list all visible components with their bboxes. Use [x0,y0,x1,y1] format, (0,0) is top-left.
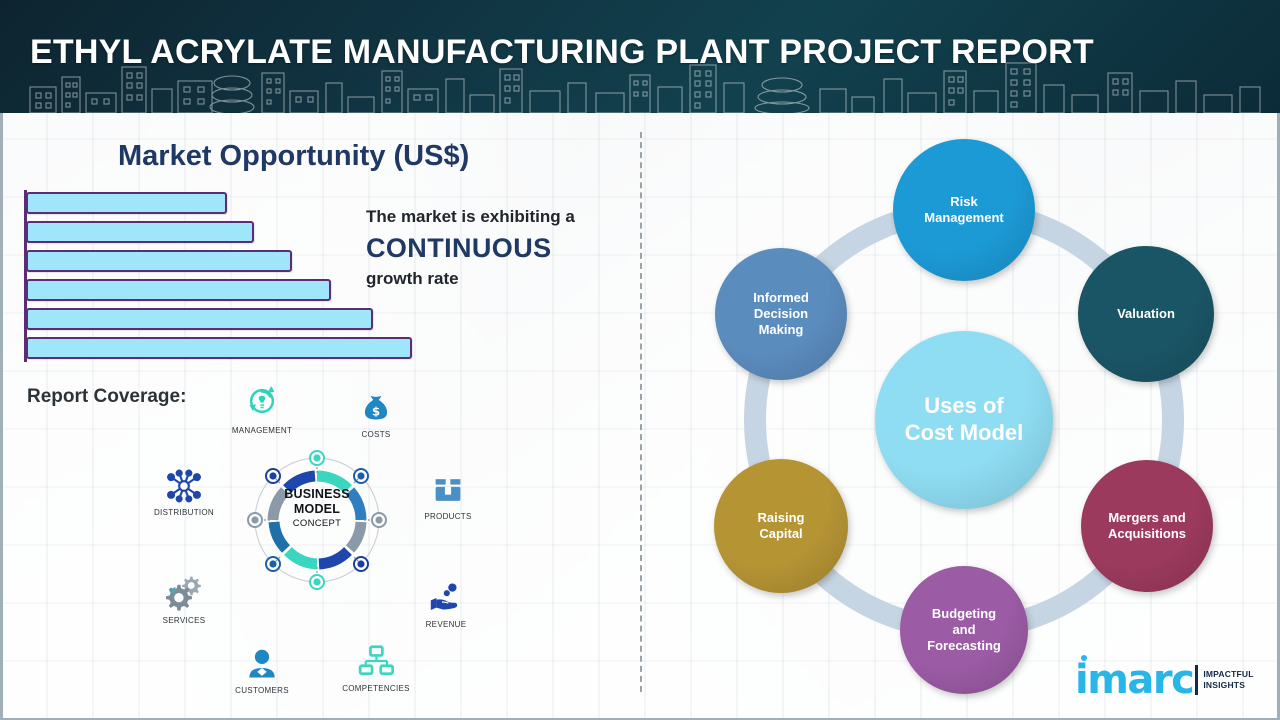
cost-model-node-mergers-and-acquisitions[interactable]: Mergers andAcquisitions [1081,460,1213,592]
cost-model-node-informed-decision[interactable]: InformedDecisionMaking [715,248,847,380]
cost-model-node-mergers-and-acquisitions-line-1: Mergers and [1102,510,1192,526]
cost-model-node-informed-decision-line-3: Making [747,322,815,338]
cost-model-node-mergers-and-acquisitions-line-2: Acquisitions [1102,526,1192,542]
chart-axis [24,190,27,362]
coverage-label-products: PRODUCTS [402,512,494,521]
slide-root: ETHYL ACRYLATE MANUFACTURING PLANT PROJE… [0,0,1280,720]
cost-model-node-risk-management-line-2: Management [918,210,1009,226]
cost-model-node-raising-capital[interactable]: RaisingCapital [714,459,848,593]
slide-header: ETHYL ACRYLATE MANUFACTURING PLANT PROJE… [0,0,1280,113]
bar-6 [26,337,412,359]
logo-wordmark: imarc [1075,662,1193,698]
hand-coins-icon [400,569,492,615]
statement-highlight: CONTINUOUS [366,229,628,267]
coverage-label-management: MANAGEMENT [216,426,308,435]
cost-model-node-budgeting-and-line-3: Forecasting [921,638,1007,654]
money-bag-icon: $ [330,379,422,425]
user-icon [216,635,308,681]
cost-model-node-valuation[interactable]: Valuation [1078,246,1214,382]
coverage-label-distribution: DISTRIBUTION [138,508,230,517]
coverage-item-costs[interactable]: $ COSTS [330,379,422,439]
business-model-donut-icon [247,450,387,590]
cost-model-node-budgeting-and[interactable]: BudgetingandForecasting [900,566,1028,694]
cost-model-node-raising-capital-line-1: Raising [752,510,811,526]
business-model-diagram: BUSINESS MODEL CONCEPT MANAGEMENT [130,375,510,705]
logo-tagline-line1: IMPACTFUL [1203,669,1253,680]
svg-text:$: $ [372,405,380,419]
coverage-item-revenue[interactable]: REVENUE [400,569,492,629]
page-title: ETHYL ACRYLATE MANUFACTURING PLANT PROJE… [30,33,1094,72]
statement-line-1: The market is exhibiting a [366,205,628,229]
bar-4 [26,279,331,301]
statement-line-3: growth rate [366,267,628,291]
cost-model-node-budgeting-and-line-2: and [921,622,1007,638]
coverage-label-services: SERVICES [138,616,230,625]
market-statement: The market is exhibiting a CONTINUOUS gr… [366,205,628,291]
gears-icon [138,565,230,611]
org-chart-icon [330,633,422,679]
cost-model-node-raising-capital-line-2: Capital [752,526,811,542]
coverage-label-costs: COSTS [330,430,422,439]
logo-dot-icon [1081,655,1087,661]
logo-tagline-line2: INSIGHTS [1203,680,1253,691]
box-icon [402,461,494,507]
coverage-label-competencies: COMPETENCIES [330,684,422,693]
coverage-label-customers: CUSTOMERS [216,686,308,695]
cost-model-node-informed-decision-line-1: Informed [747,290,815,306]
coverage-item-competencies[interactable]: COMPETENCIES [330,633,422,693]
cost-model-node-informed-decision-line-2: Decision [747,306,815,322]
imarc-logo[interactable]: imarc IMPACTFUL INSIGHTS [1075,662,1254,698]
bar-3 [26,250,292,272]
market-opportunity-bar-chart [24,190,424,365]
network-nodes-icon [138,457,230,503]
cost-model-center-line-2: Cost Model [899,420,1030,447]
cost-model-node-risk-management-line-1: Risk [918,194,1009,210]
bar-2 [26,221,254,243]
coverage-item-customers[interactable]: CUSTOMERS [216,635,308,695]
cost-model-node-valuation-line-1: Valuation [1111,306,1181,322]
coverage-item-management[interactable]: MANAGEMENT [216,375,308,435]
market-opportunity-title: Market Opportunity (US$) [118,140,469,173]
coverage-item-products[interactable]: PRODUCTS [402,461,494,521]
panel-divider [640,132,642,692]
coverage-label-revenue: REVENUE [400,620,492,629]
cost-model-node-risk-management[interactable]: RiskManagement [893,139,1035,281]
coverage-item-services[interactable]: SERVICES [138,565,230,625]
logo-divider [1195,665,1198,695]
coverage-item-distribution[interactable]: DISTRIBUTION [138,457,230,517]
bar-1 [26,192,227,214]
cost-model-node-budgeting-and-line-1: Budgeting [921,606,1007,622]
bar-5 [26,308,373,330]
lightbulb-recycle-icon [216,375,308,421]
cost-model-center-line-1: Uses of [899,393,1030,420]
cost-model-center[interactable]: Uses ofCost Model [875,331,1053,509]
